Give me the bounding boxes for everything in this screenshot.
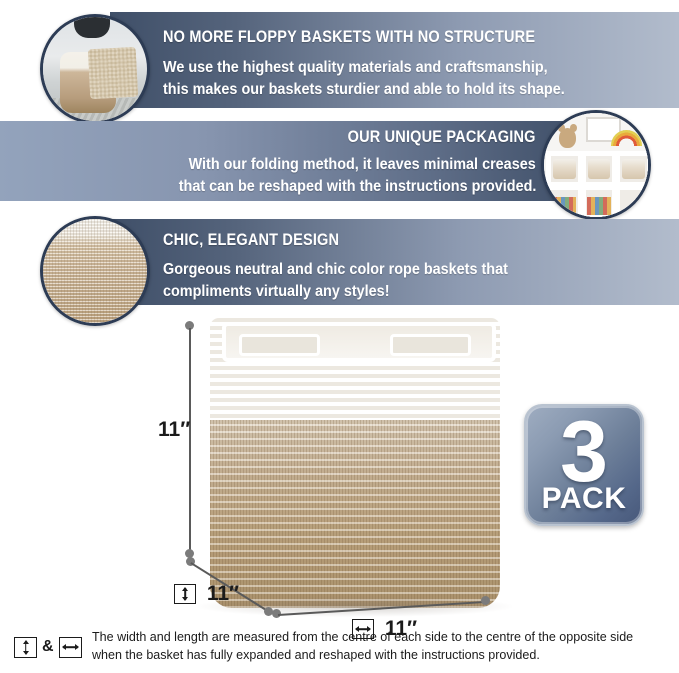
banner-body-line-2: this makes our baskets sturdier and able… bbox=[163, 80, 565, 101]
basket-shadow bbox=[198, 596, 511, 616]
product-basket-image bbox=[210, 318, 500, 608]
footnote-icons: & bbox=[14, 628, 82, 658]
pack-count-badge: 3 PACK bbox=[524, 404, 644, 526]
pack-count-number: 3 bbox=[560, 416, 608, 488]
feature-banner-no-floppy: NO MORE FLOPPY BASKETS WITH NO STRUCTURE… bbox=[0, 12, 679, 108]
height-arrow-icon bbox=[174, 584, 196, 604]
rope-texture-photo bbox=[40, 216, 150, 326]
footnote-line-1: The width and length are measured from t… bbox=[92, 628, 633, 647]
banner-body-line-2: that can be reshaped with the instructio… bbox=[178, 177, 536, 198]
banner-body-line-1: With our folding method, it leaves minim… bbox=[189, 155, 536, 176]
dimension-label-height: 11″ bbox=[158, 418, 190, 442]
banner-body-line-1: Gorgeous neutral and chic color rope bas… bbox=[163, 260, 508, 281]
measurement-footnote: & The width and length are measured from… bbox=[14, 628, 661, 665]
nursery-shelf-photo bbox=[541, 110, 651, 220]
basket-tan-rope-section bbox=[210, 420, 500, 609]
dimension-label-depth: 11″ bbox=[174, 582, 239, 606]
basket-handle-right bbox=[390, 334, 471, 356]
banner-title: OUR UNIQUE PACKAGING bbox=[348, 128, 536, 147]
dimension-depth-value: 11″ bbox=[207, 582, 239, 605]
footnote-text: The width and length are measured from t… bbox=[92, 628, 633, 665]
feature-banner-chic-design: CHIC, ELEGANT DESIGN Gorgeous neutral an… bbox=[0, 219, 679, 305]
footnote-conjunction: & bbox=[42, 638, 54, 656]
width-arrow-icon bbox=[59, 637, 82, 658]
banner-title: CHIC, ELEGANT DESIGN bbox=[163, 231, 339, 250]
banner-body-line-2: compliments virtually any styles! bbox=[163, 282, 389, 303]
pack-count-word: PACK bbox=[542, 484, 627, 514]
feature-banner-unique-packaging: OUR UNIQUE PACKAGING With our folding me… bbox=[0, 121, 679, 201]
banner-body-line-1: We use the highest quality materials and… bbox=[163, 58, 548, 79]
basket-handle-left bbox=[239, 334, 320, 356]
height-arrow-icon bbox=[14, 637, 37, 658]
banner-title: NO MORE FLOPPY BASKETS WITH NO STRUCTURE bbox=[163, 28, 535, 47]
dimension-dot bbox=[481, 596, 490, 605]
footnote-line-2: when the basket has fully expanded and r… bbox=[92, 646, 633, 665]
basket-with-towel-photo bbox=[40, 14, 150, 124]
